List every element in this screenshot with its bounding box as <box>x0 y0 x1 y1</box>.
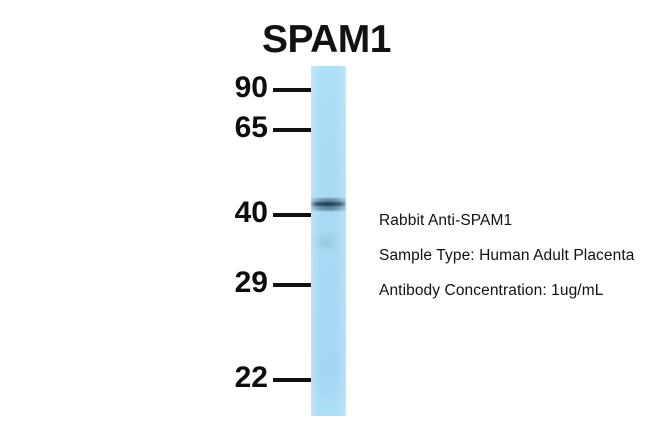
annotation-block: Rabbit Anti-SPAM1 Sample Type: Human Adu… <box>379 212 641 299</box>
ladder-tick-22 <box>273 378 311 382</box>
blot-lane <box>311 66 346 416</box>
ladder-tick-65 <box>273 128 311 132</box>
ladder-label-40: 40 <box>235 197 268 229</box>
ladder-tick-40 <box>273 213 311 217</box>
molecular-weight-ladder: 90 65 40 29 22 <box>0 0 320 433</box>
membrane-strip <box>311 66 346 416</box>
ladder-label-22: 22 <box>235 362 268 394</box>
ladder-label-65: 65 <box>235 112 268 144</box>
antibody-concentration-label: Antibody Concentration: 1ug/mL <box>379 282 641 299</box>
sample-type-label: Sample Type: Human Adult Placenta <box>379 247 641 264</box>
ladder-tick-90 <box>273 88 311 92</box>
ladder-label-29: 29 <box>235 267 268 299</box>
western-blot-figure: SPAM1 90 65 40 29 22 Rabbit Anti <box>0 0 650 433</box>
antibody-label: Rabbit Anti-SPAM1 <box>379 212 641 229</box>
ladder-tick-29 <box>273 283 311 287</box>
ladder-label-90: 90 <box>235 72 268 104</box>
